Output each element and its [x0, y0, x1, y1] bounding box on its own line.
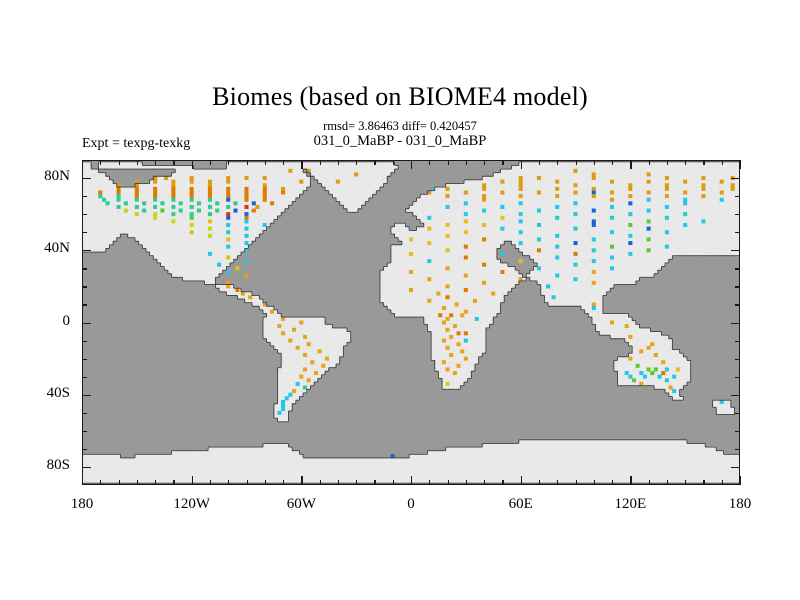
- x-axis-label: 180: [42, 496, 122, 513]
- x-axis-label: 120W: [152, 496, 232, 513]
- map-plot-area: [82, 160, 740, 485]
- stats-line: rmsd= 3.86463 diff= 0.420457: [0, 119, 800, 134]
- x-axis-label: 180: [700, 496, 780, 513]
- page-title: Biomes (based on BIOME4 model): [0, 82, 800, 112]
- y-axis-label: 0: [18, 313, 70, 330]
- x-axis-label: 0: [371, 496, 451, 513]
- y-axis-label: 40N: [18, 240, 70, 257]
- x-tick: [740, 160, 741, 169]
- x-axis-label: 60W: [261, 496, 341, 513]
- biome-map-canvas: [82, 160, 740, 485]
- x-axis-label: 120E: [590, 496, 670, 513]
- x-tick: [740, 476, 741, 485]
- y-axis-label: 40S: [18, 385, 70, 402]
- y-axis-label: 80N: [18, 168, 70, 185]
- case-comparison-label: 031_0_MaBP - 031_0_MaBP: [0, 133, 800, 150]
- figure-root: Biomes (based on BIOME4 model) rmsd= 3.8…: [0, 0, 800, 600]
- y-axis-label: 80S: [18, 457, 70, 474]
- x-axis-label: 60E: [481, 496, 561, 513]
